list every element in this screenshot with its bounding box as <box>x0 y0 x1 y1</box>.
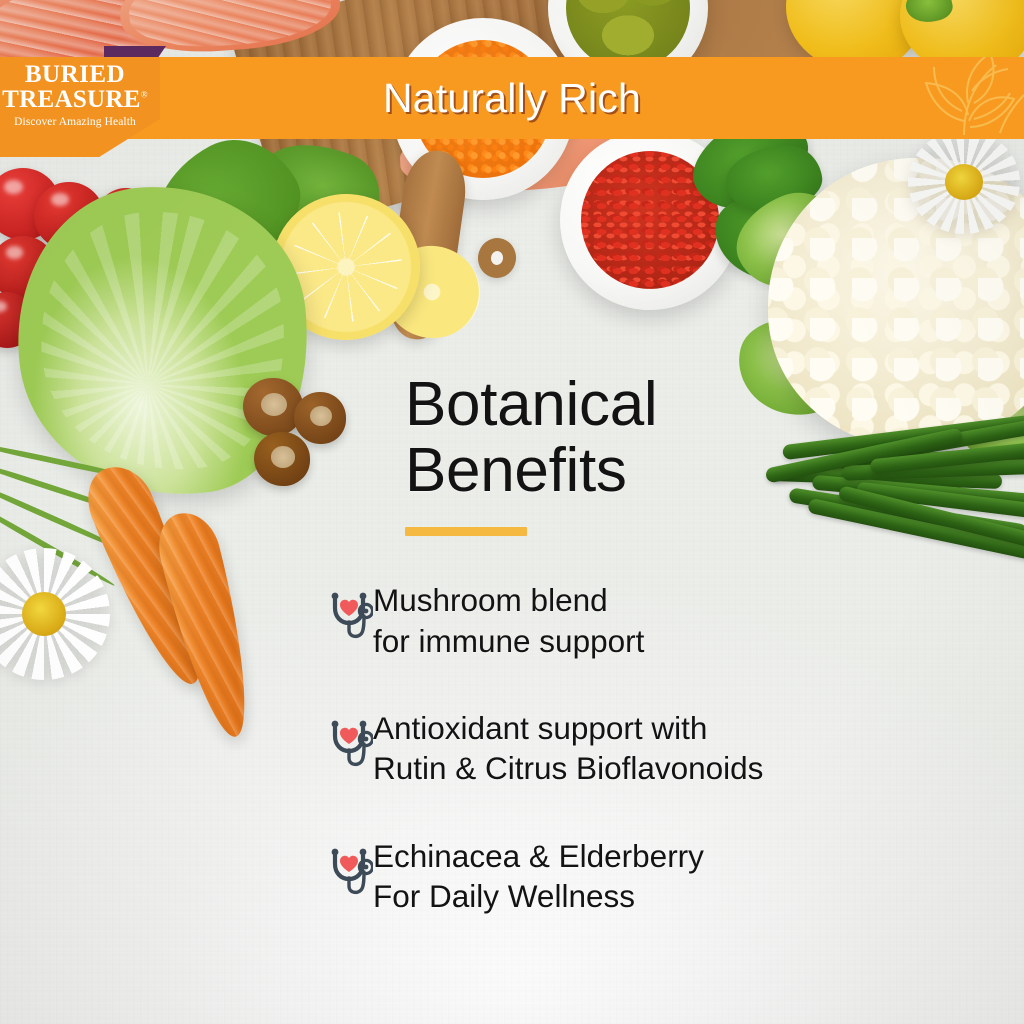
page-title: Botanical Benefits <box>405 372 1005 503</box>
benefit-text: Mushroom blend for immune support <box>373 580 644 661</box>
benefit-text: Antioxidant support with Rutin & Citrus … <box>373 708 763 789</box>
benefit-text: Echinacea & Elderberry For Daily Wellnes… <box>373 836 704 917</box>
brand-tagline: Discover Amazing Health <box>0 116 150 128</box>
brand-logo[interactable]: BURIED TREASURE® Discover Amazing Health <box>0 62 150 128</box>
registered-trademark-icon: ® <box>141 90 148 100</box>
product-infographic-poster: Naturally Rich BURIED TREASURE® Discover… <box>0 0 1024 1024</box>
benefits-list: Mushroom blend for immune support Antiox… <box>405 580 1005 916</box>
brand-name-line2: TREASURE® <box>0 87 150 112</box>
stethoscope-heart-icon <box>327 592 373 644</box>
list-item: Echinacea & Elderberry For Daily Wellnes… <box>405 836 1005 917</box>
content-block: Botanical Benefits Mushroom blend for im… <box>405 372 1005 963</box>
stethoscope-heart-icon <box>327 848 373 900</box>
list-item: Antioxidant support with Rutin & Citrus … <box>405 708 1005 789</box>
title-divider <box>405 527 527 536</box>
brand-name-line2-text: TREASURE <box>2 86 141 113</box>
stethoscope-heart-icon <box>327 720 373 772</box>
brand-name-line1: BURIED <box>0 62 150 87</box>
list-item: Mushroom blend for immune support <box>405 580 1005 661</box>
